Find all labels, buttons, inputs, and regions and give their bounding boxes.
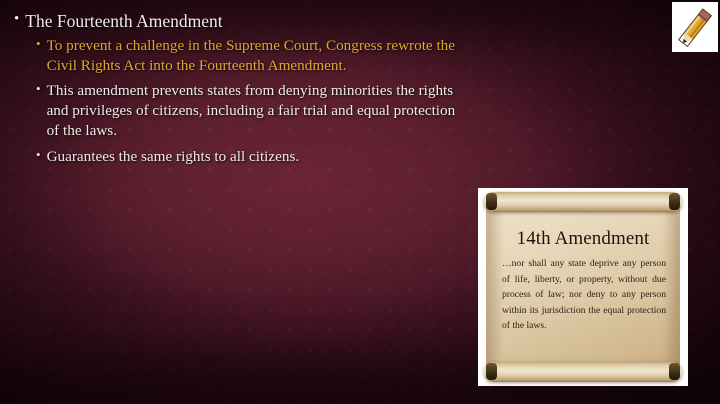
- presentation-slide: • The Fourteenth Amendment • To prevent …: [0, 0, 720, 404]
- scroll-bottom-roll: [484, 362, 682, 382]
- scroll-image-frame: 14th Amendment …nor shall any state depr…: [478, 188, 688, 386]
- bullet-marker-icon: •: [36, 147, 41, 163]
- scroll-quote-text: …nor shall any state deprive any person …: [502, 256, 666, 334]
- bullet-marker-icon: •: [36, 81, 41, 97]
- bullet-marker-icon: •: [14, 10, 19, 28]
- scroll-top-roll: [484, 192, 682, 212]
- scroll-roll-cap-left: [486, 193, 497, 210]
- bullet-level1-item: • The Fourteenth Amendment: [14, 10, 470, 33]
- bullet-text: This amendment prevents states from deny…: [47, 81, 470, 140]
- bullet-text: To prevent a challenge in the Supreme Co…: [47, 36, 470, 76]
- pencil-icon: [672, 2, 718, 52]
- pencil-icon-container: [672, 2, 718, 52]
- bullet-level2-item: • Guarantees the same rights to all citi…: [36, 147, 470, 167]
- scroll-title: 14th Amendment: [486, 228, 680, 250]
- bullet-text: Guarantees the same rights to all citize…: [47, 147, 470, 167]
- bullet-text: The Fourteenth Amendment: [25, 10, 470, 33]
- slide-body-text: • The Fourteenth Amendment • To prevent …: [0, 0, 470, 172]
- scroll-roll-cap-right: [669, 363, 680, 380]
- scroll-parchment: 14th Amendment …nor shall any state depr…: [486, 198, 680, 376]
- bullet-level2-item-highlighted: • To prevent a challenge in the Supreme …: [36, 36, 470, 76]
- scroll-roll-cap-right: [669, 193, 680, 210]
- bullet-marker-icon: •: [36, 36, 41, 52]
- scroll-roll-cap-left: [486, 363, 497, 380]
- bullet-level2-item: • This amendment prevents states from de…: [36, 81, 470, 140]
